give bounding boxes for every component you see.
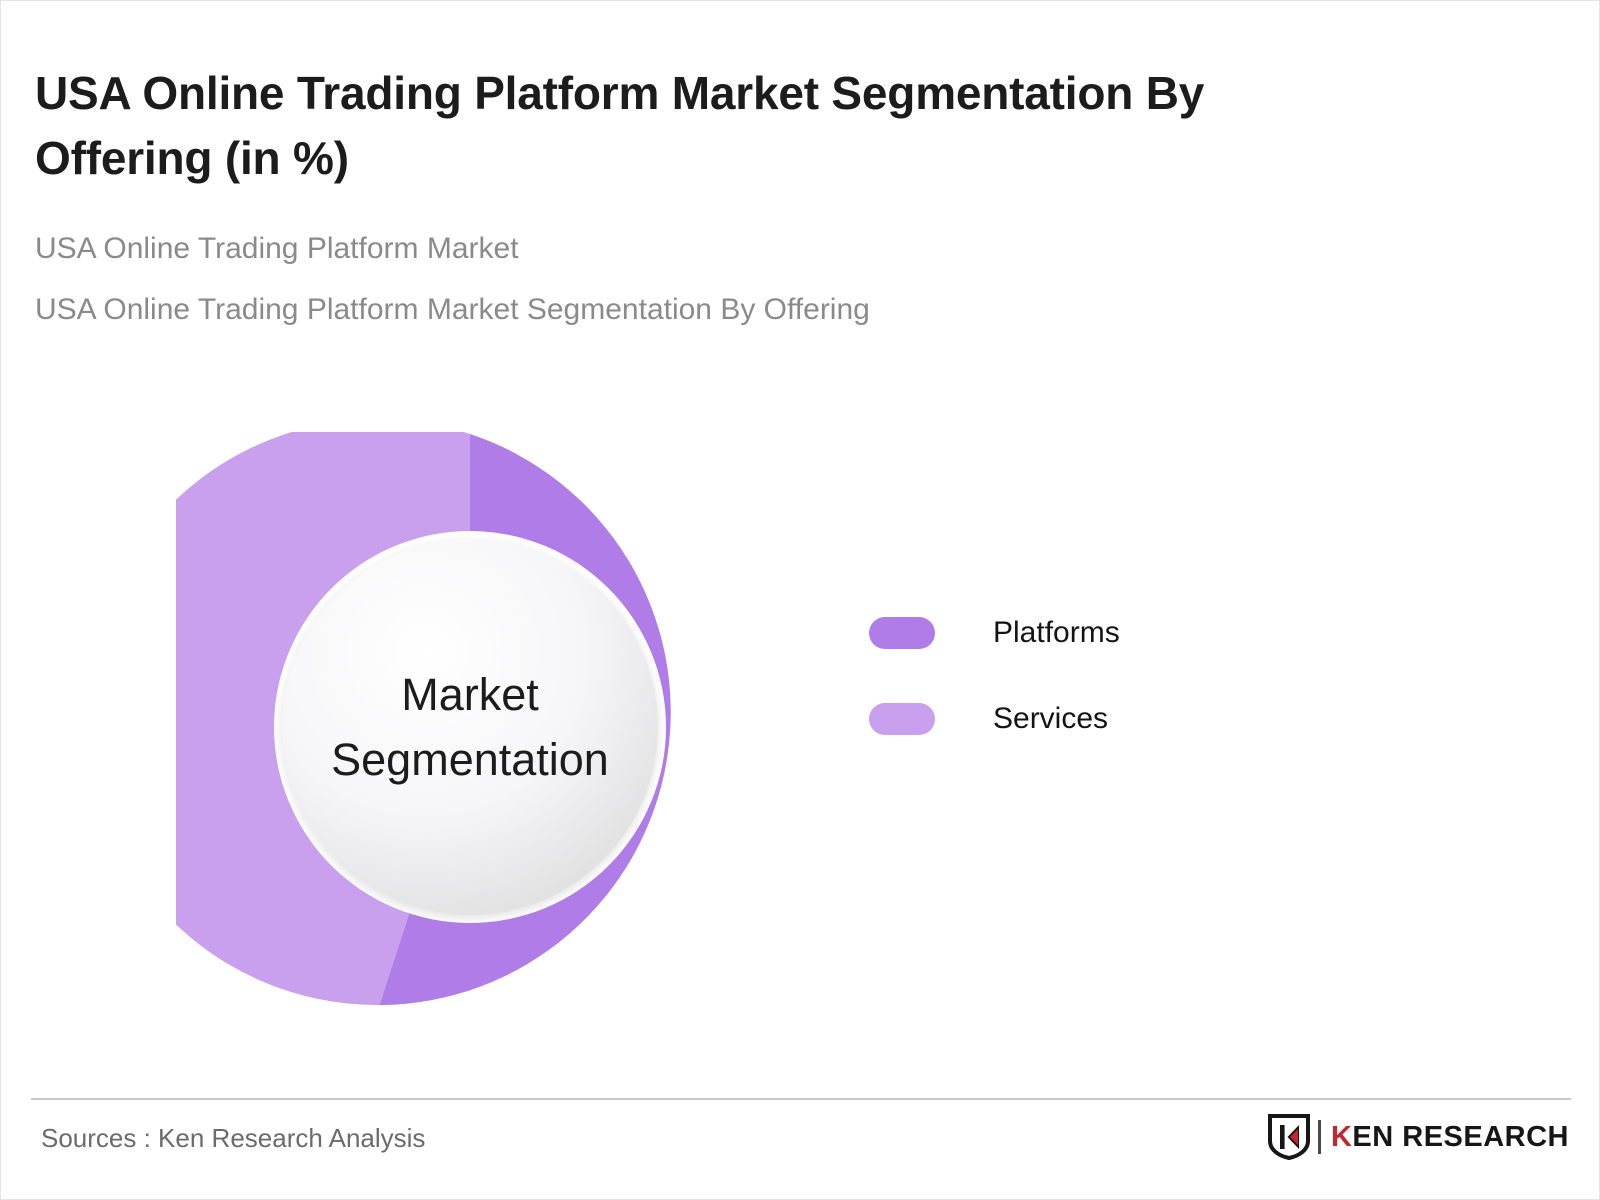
ken-shield-icon bbox=[1268, 1114, 1310, 1160]
logo-wordmark: KEN RESEARCH bbox=[1331, 1121, 1569, 1154]
chart-header: USA Online Trading Platform Market Segme… bbox=[35, 61, 1435, 325]
legend-swatch-platforms bbox=[869, 617, 935, 649]
sources-text: Sources : Ken Research Analysis bbox=[41, 1123, 425, 1154]
page-title: USA Online Trading Platform Market Segme… bbox=[35, 61, 1365, 192]
chart-footer: Sources : Ken Research Analysis KEN RESE… bbox=[1, 1098, 1600, 1200]
logo-divider bbox=[1318, 1120, 1321, 1154]
donut-svg bbox=[176, 432, 764, 1022]
logo-wordmark-accent: K bbox=[1331, 1121, 1352, 1153]
legend-label-services: Services bbox=[993, 702, 1108, 736]
logo-wordmark-rest: EN RESEARCH bbox=[1352, 1121, 1569, 1153]
chart-subtitle: USA Online Trading Platform Market bbox=[35, 234, 1435, 264]
chart-subtitle-secondary: USA Online Trading Platform Market Segme… bbox=[35, 295, 1435, 325]
donut-chart: Market Segmentation bbox=[176, 432, 764, 1022]
legend-item-platforms[interactable]: Platforms bbox=[869, 611, 1120, 655]
chart-legend: Platforms Services bbox=[869, 611, 1120, 783]
legend-swatch-services bbox=[869, 703, 935, 735]
chart-page: USA Online Trading Platform Market Segme… bbox=[0, 0, 1600, 1200]
legend-item-services[interactable]: Services bbox=[869, 697, 1120, 741]
chart-area: Market Segmentation Platforms Services bbox=[1, 371, 1600, 1071]
legend-label-platforms: Platforms bbox=[993, 616, 1120, 650]
ken-research-logo[interactable]: KEN RESEARCH bbox=[1268, 1114, 1569, 1160]
donut-center-disc bbox=[282, 539, 658, 915]
